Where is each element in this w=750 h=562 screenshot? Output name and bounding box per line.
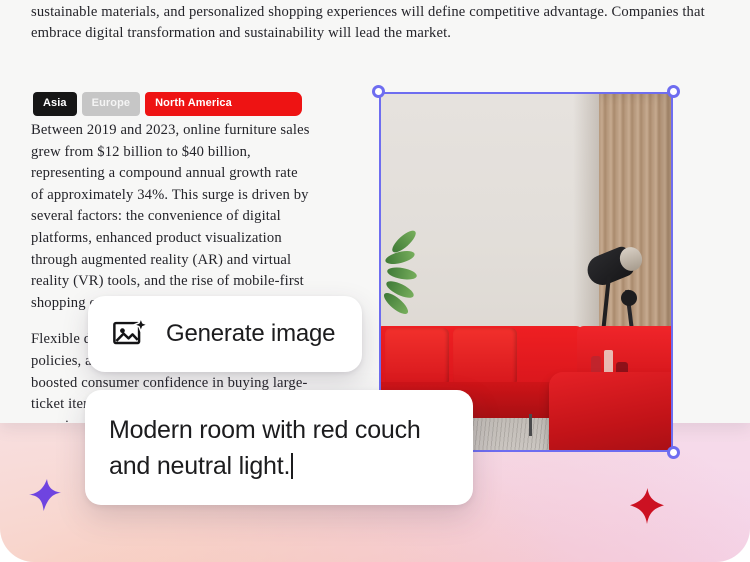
- app-canvas: of total furniture sales, while Asia-Pac…: [0, 0, 750, 562]
- sparkle-purple-icon: [28, 478, 62, 512]
- document-body-column: Between 2019 and 2023, online furniture …: [31, 120, 313, 423]
- resize-handle-bottom-right[interactable]: [667, 446, 680, 459]
- text-caret: [291, 453, 293, 479]
- prompt-input-card[interactable]: Modern room with red couch and neutral l…: [85, 390, 473, 505]
- tab-europe[interactable]: Europe: [82, 92, 141, 116]
- image-chaise-seat: [549, 372, 673, 452]
- document-paragraph-1: Between 2019 and 2023, online furniture …: [31, 120, 313, 314]
- prompt-input-value: Modern room with red couch and neutral l…: [109, 416, 421, 480]
- tab-asia[interactable]: Asia: [33, 92, 77, 116]
- resize-handle-top-right[interactable]: [667, 85, 680, 98]
- region-tabs[interactable]: Asia Europe North America: [33, 92, 302, 116]
- document-top-paragraph: of total furniture sales, while Asia-Pac…: [31, 0, 723, 45]
- image-lamp-knob: [621, 290, 637, 306]
- tab-north-america[interactable]: North America: [145, 92, 302, 116]
- generate-image-button[interactable]: Generate image: [88, 296, 362, 372]
- image-plant: [385, 234, 425, 316]
- image-sparkle-icon: [112, 315, 150, 353]
- prompt-input[interactable]: Modern room with red couch and neutral l…: [109, 412, 449, 484]
- resize-handle-top-left[interactable]: [372, 85, 385, 98]
- sparkle-red-icon: [628, 487, 666, 525]
- generate-image-label: Generate image: [166, 320, 335, 348]
